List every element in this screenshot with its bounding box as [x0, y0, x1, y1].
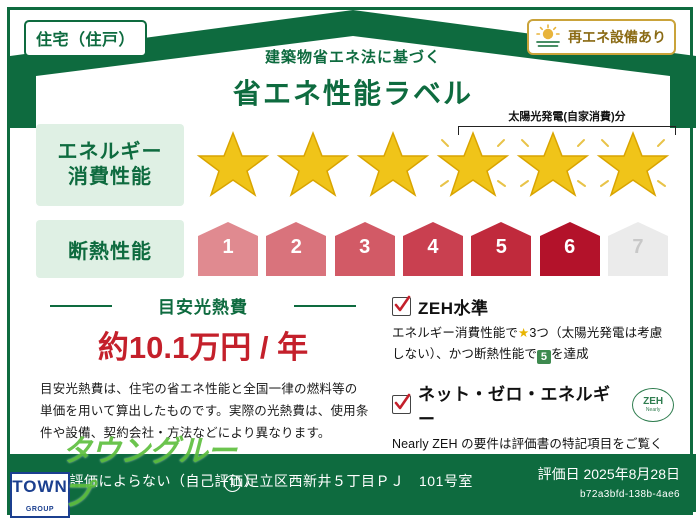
insulation-grade-badge: 5 [537, 350, 551, 364]
net-zero-energy-row: ネット・ゼロ・エネルギー ZEH Nearly [392, 380, 674, 430]
check-icon [392, 395, 411, 414]
star-icon [356, 126, 430, 202]
insulation-cell-label: 1 [196, 236, 260, 259]
evaluation-id: b72a3bfd-138b-4ae6 [538, 489, 680, 500]
zeh-text-a: エネルギー消費性能で [392, 326, 518, 340]
insulation-cell-6: 6 [538, 220, 602, 278]
solar-share-bracket: 太陽光発電(自家消費)分 [452, 112, 682, 140]
footer-meta: 評価日 2025年8月28日 b72a3bfd-138b-4ae6 [538, 464, 680, 500]
insulation-cell-5: 5 [469, 220, 533, 278]
insulation-label-box: 断熱性能 [36, 220, 184, 278]
renewable-energy-badge-label: 再エネ設備あり [568, 27, 666, 47]
insulation-cell-label: 6 [538, 236, 602, 259]
check-icon [392, 297, 411, 316]
page-title: 省エネ性能ラベル [10, 72, 696, 112]
energy-cost-block: 目安光熱費 約10.1万円 / 年 目安光熱費は、住宅の省エネ性能と全国一律の燃… [36, 294, 370, 464]
house-type-tag: 住宅（住戸） [24, 20, 147, 57]
energy-performance-row: エネルギー 消費性能 太陽光発電(自家消費)分 [36, 124, 670, 206]
insulation-cell-7: 7 [606, 220, 670, 278]
heading-rule-left [50, 305, 112, 307]
insulation-cell-2: 2 [264, 220, 328, 278]
star-icon [196, 126, 270, 202]
insulation-cell-label: 4 [401, 236, 465, 259]
zeh-standard-text: エネルギー消費性能で★3つ（太陽光発電は考慮しない）、かつ断熱性能で5を達成 [392, 323, 674, 366]
insulation-cell-label: 5 [469, 236, 533, 259]
insulation-cell-label: 2 [264, 236, 328, 259]
insulation-cell-label: 7 [606, 236, 670, 259]
insulation-cell-4: 4 [401, 220, 465, 278]
zeh-badge-sub: Nearly [646, 408, 660, 413]
criteria-block: ZEH水準 エネルギー消費性能で★3つ（太陽光発電は考慮しない）、かつ断熱性能で… [392, 294, 674, 464]
energy-label-line1: エネルギー [58, 140, 163, 165]
energy-label-line2: 消費性能 [68, 165, 152, 190]
bracket-line [458, 126, 676, 135]
energy-performance-label-box: エネルギー 消費性能 [36, 124, 184, 206]
label-frame: 住宅（住戸） [7, 7, 693, 515]
sun-icon [534, 24, 562, 50]
renewable-energy-badge: 再エネ設備あり [527, 19, 676, 55]
insulation-cell-3: 3 [333, 220, 397, 278]
energy-cost-value: 約10.1万円 / 年 [36, 322, 370, 367]
insulation-cell-label: 3 [333, 236, 397, 259]
zeh-standard-title: ZEH水準 [418, 294, 489, 319]
insulation-scale: 1 2 3 4 5 [196, 220, 670, 278]
heading-rule-right [294, 305, 356, 307]
zeh-standard-row: ZEH水準 [392, 294, 674, 319]
evaluation-date: 評価日 2025年8月28日 [538, 464, 680, 484]
address-marker-icon: 1 [224, 475, 241, 492]
energy-performance-label: 住宅（住戸） [0, 0, 700, 522]
energy-cost-heading: 目安光熱費 [36, 294, 370, 316]
mini-star-icon: ★ [518, 326, 529, 340]
footer-bar: 第三者評価によらない（自己評価） 1足立区西新井５丁目ＰＪ 101号室 評価日 … [10, 454, 696, 512]
property-address: 1足立区西新井５丁目ＰＪ 101号室 [224, 471, 473, 492]
energy-cost-heading-text: 目安光熱費 [150, 293, 256, 318]
zeh-text-c: を達成 [551, 347, 589, 361]
zeh-badge-icon: ZEH Nearly [632, 388, 674, 422]
insulation-row: 断熱性能 1 2 3 4 [36, 220, 670, 282]
insulation-cell-1: 1 [196, 220, 260, 278]
net-zero-energy-title: ネット・ゼロ・エネルギー [418, 380, 626, 430]
zeh-badge-main: ZEH [643, 397, 663, 407]
energy-cost-note: 目安光熱費は、住宅の省エネ性能と全国一律の燃料等の単価を用いて算出したものです。… [36, 379, 370, 445]
property-address-text: 足立区西新井５丁目ＰＪ 101号室 [245, 473, 473, 489]
star-icon [276, 126, 350, 202]
